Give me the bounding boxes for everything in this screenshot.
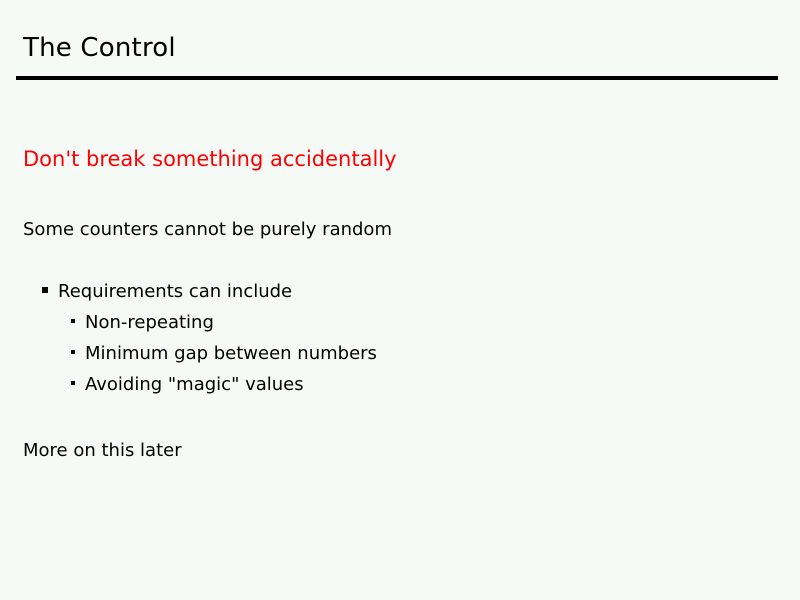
- slide: The Control Don't break something accide…: [0, 0, 800, 600]
- intro-text: Some counters cannot be purely random: [23, 218, 392, 241]
- title-divider: [16, 76, 778, 80]
- closing-text: More on this later: [23, 439, 182, 462]
- list-item-label: Avoiding "magic" values: [85, 373, 304, 396]
- square-bullet-icon: [71, 319, 75, 323]
- square-bullet-icon: [71, 350, 75, 354]
- list-item: Minimum gap between numbers: [71, 342, 800, 373]
- list-item: Requirements can include: [42, 280, 800, 311]
- list-item-label: Requirements can include: [58, 280, 292, 303]
- list-item: Non-repeating: [71, 311, 800, 342]
- page-title: The Control: [23, 32, 176, 64]
- list-item: Avoiding "magic" values: [71, 373, 800, 404]
- emphasis-heading: Don't break something accidentally: [23, 146, 397, 172]
- list-item-label: Non-repeating: [85, 311, 214, 334]
- list-item-label: Minimum gap between numbers: [85, 342, 377, 365]
- bullet-list: Requirements can include Non-repeating M…: [0, 280, 800, 404]
- square-bullet-icon: [42, 287, 48, 293]
- square-bullet-icon: [71, 381, 75, 385]
